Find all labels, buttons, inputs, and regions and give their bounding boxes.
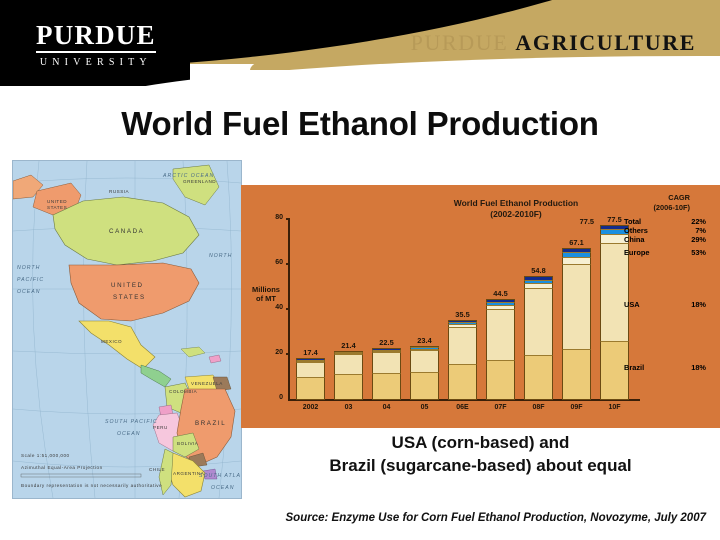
chart-bar-03[interactable]: 21.4 <box>334 351 363 400</box>
cagr-label-usa: USA <box>624 300 672 309</box>
y-tick-mark-40 <box>286 308 290 310</box>
cagr-value-europe: 53% <box>672 248 706 257</box>
purdue-logo-subtext: UNIVERSITY <box>36 57 156 68</box>
y-tick-label-20: 20 <box>265 349 283 356</box>
cagr-value-total: 22% <box>672 217 706 226</box>
bar-segment-usa-10F <box>600 243 629 341</box>
bar-segment-brazil-2002 <box>296 377 325 400</box>
bar-segment-usa-04 <box>372 352 401 373</box>
map-label-united-states: UNITED <box>111 282 144 289</box>
americas-map-image: RUSSIA ARCTIC OCEAN GREENLAND UNITED STA… <box>12 160 242 499</box>
cagr-label-europe: Europe <box>624 248 672 257</box>
brand-purdue-text: PURDUE <box>411 30 509 55</box>
bar-segment-usa-08F <box>524 288 553 356</box>
chart-bar-09F[interactable]: 67.1 <box>562 248 591 400</box>
chart-bar-2002[interactable]: 17.4 <box>296 358 325 400</box>
bar-value-label-03: 21.4 <box>328 341 369 350</box>
map-label-chile: CHILE <box>149 467 165 472</box>
bar-segment-usa-09F <box>562 264 591 349</box>
cagr-row-others: Others7% <box>624 226 706 235</box>
map-label-russia: RUSSIA <box>109 189 130 194</box>
bar-segment-usa-05 <box>410 350 439 372</box>
cagr-value-brazil: 18% <box>672 363 706 372</box>
cagr-label-brazil: Brazil <box>624 363 672 372</box>
bar-segment-europe-09F <box>562 257 591 264</box>
chart-bar-06E[interactable]: 35.5 <box>448 320 477 400</box>
chart-bar-04[interactable]: 22.5 <box>372 348 401 400</box>
x-tick-label-09F: 09F <box>557 404 597 411</box>
bar-segment-brazil-06E <box>448 364 477 400</box>
map-label-peru: PERU <box>153 425 168 430</box>
map-label-mexico: MEXICO <box>101 339 122 344</box>
map-label-south-atlantic: SOUTH ATLANTIC <box>199 473 241 479</box>
map-label-south-pacific: SOUTH PACIFIC <box>105 419 158 425</box>
slide-root: PURDUE UNIVERSITY PURDUE AGRICULTURE Wor… <box>0 0 720 540</box>
map-label-greenland: GREENLAND <box>183 179 216 184</box>
map-label-alaska-2: STATES <box>47 205 67 210</box>
x-tick-label-03: 03 <box>329 404 369 411</box>
bar-segment-brazil-03 <box>334 374 363 400</box>
chart-bar-08F[interactable]: 54.8 <box>524 276 553 400</box>
chart-bar-05[interactable]: 23.4 <box>410 346 439 400</box>
y-tick-mark-60 <box>286 263 290 265</box>
map-label-brazil: BRAZIL <box>195 420 226 427</box>
cagr-row-china: China29% <box>624 235 706 244</box>
map-label-south-atlantic-ocean: OCEAN <box>211 485 234 491</box>
y-tick-mark-80 <box>286 218 290 220</box>
bar-segment-usa-06E <box>448 327 477 364</box>
bar-value-label-04: 22.5 <box>366 338 407 347</box>
map-boundary-note: Boundary representation is not necessari… <box>21 483 162 488</box>
map-label-alaska: UNITED <box>47 199 67 204</box>
cagr-value-china: 29% <box>672 235 706 244</box>
map-label-north-atlantic: NORTH <box>209 253 232 259</box>
map-label-colombia: COLOMBIA <box>169 389 198 394</box>
bar-value-label-08F: 54.8 <box>518 266 559 275</box>
bar-value-label-06E: 35.5 <box>442 310 483 319</box>
cagr-row-europe: Europe53% <box>624 248 706 257</box>
bar-segment-usa-2002 <box>296 362 325 377</box>
page-title: World Fuel Ethanol Production <box>0 105 720 143</box>
map-label-south-pacific-ocean: OCEAN <box>117 431 140 437</box>
x-tick-label-04: 04 <box>367 404 407 411</box>
bar-segment-usa-03 <box>334 354 363 373</box>
chart-caption: USA (corn-based) and Brazil (sugarcane-b… <box>241 432 720 478</box>
chart-bar-07F[interactable]: 44.5 <box>486 299 515 400</box>
cagr-header-line2: (2006-10F) <box>596 203 690 213</box>
source-citation: Source: Enzyme Use for Corn Fuel Ethanol… <box>0 512 706 524</box>
cagr-row-usa: USA18% <box>624 300 706 309</box>
map-graphic: RUSSIA ARCTIC OCEAN GREENLAND UNITED STA… <box>13 161 241 498</box>
purdue-logo-wordmark: PURDUE <box>36 22 156 53</box>
bar-value-label-07F: 44.5 <box>480 289 521 298</box>
map-label-north-pacific: NORTH <box>17 265 40 271</box>
chart-peak-value-label: 77.5 <box>580 217 594 226</box>
purdue-agriculture-brandmark: PURDUE AGRICULTURE <box>411 30 696 56</box>
cagr-header-line1: CAGR <box>596 193 690 203</box>
x-tick-label-2002: 2002 <box>291 404 331 411</box>
bar-segment-brazil-09F <box>562 349 591 400</box>
cagr-label-others: Others <box>624 226 672 235</box>
bar-segment-brazil-05 <box>410 372 439 400</box>
map-scale-text: Scale 1:51,000,000 <box>21 453 70 458</box>
cagr-label-total: Total <box>624 217 672 226</box>
cagr-row-brazil: Brazil18% <box>624 363 706 372</box>
bar-value-label-09F: 67.1 <box>556 238 597 247</box>
cagr-header: CAGR (2006-10F) <box>596 193 714 212</box>
map-label-bolivia: BOLIVIA <box>177 441 199 446</box>
map-label-ocean: OCEAN <box>17 289 40 295</box>
x-tick-label-10F: 10F <box>595 404 635 411</box>
x-tick-label-08F: 08F <box>519 404 559 411</box>
x-tick-label-06E: 06E <box>443 404 483 411</box>
x-tick-label-05: 05 <box>405 404 445 411</box>
caption-line-1: USA (corn-based) and <box>241 432 720 455</box>
brand-agriculture-text: AGRICULTURE <box>515 30 696 55</box>
y-tick-label-0: 0 <box>265 394 283 401</box>
slide-header: PURDUE UNIVERSITY PURDUE AGRICULTURE <box>0 0 720 86</box>
map-label-united-states-2: STATES <box>113 294 146 301</box>
cagr-label-china: China <box>624 235 672 244</box>
cagr-value-others: 7% <box>672 226 706 235</box>
bar-segment-brazil-07F <box>486 360 515 400</box>
bar-value-label-05: 23.4 <box>404 336 445 345</box>
bar-segment-brazil-08F <box>524 355 553 400</box>
purdue-university-logo: PURDUE UNIVERSITY <box>36 22 156 68</box>
bar-segment-brazil-04 <box>372 373 401 400</box>
cagr-row-total: Total22% <box>624 217 706 226</box>
map-label-venezuela: VENEZUELA <box>191 381 223 386</box>
map-label-pacific: PACIFIC <box>17 277 44 283</box>
ethanol-production-chart: World Fuel Ethanol Production (2002-2010… <box>241 185 720 428</box>
map-label-canada: CANADA <box>109 228 144 235</box>
y-tick-label-80: 80 <box>265 214 283 221</box>
chart-y-axis-title: Millions of MT <box>246 285 286 304</box>
x-tick-label-07F: 07F <box>481 404 521 411</box>
cagr-value-usa: 18% <box>672 300 706 309</box>
chart-cagr-legend: CAGR (2006-10F) <box>596 193 714 212</box>
map-projection-text: Azimuthal Equal-Area Projection <box>21 465 103 470</box>
bar-value-label-2002: 17.4 <box>290 348 331 357</box>
y-tick-label-60: 60 <box>265 259 283 266</box>
caption-line-2: Brazil (sugarcane-based) about equal <box>241 455 720 478</box>
bar-segment-usa-07F <box>486 309 515 360</box>
y-tick-label-40: 40 <box>265 304 283 311</box>
